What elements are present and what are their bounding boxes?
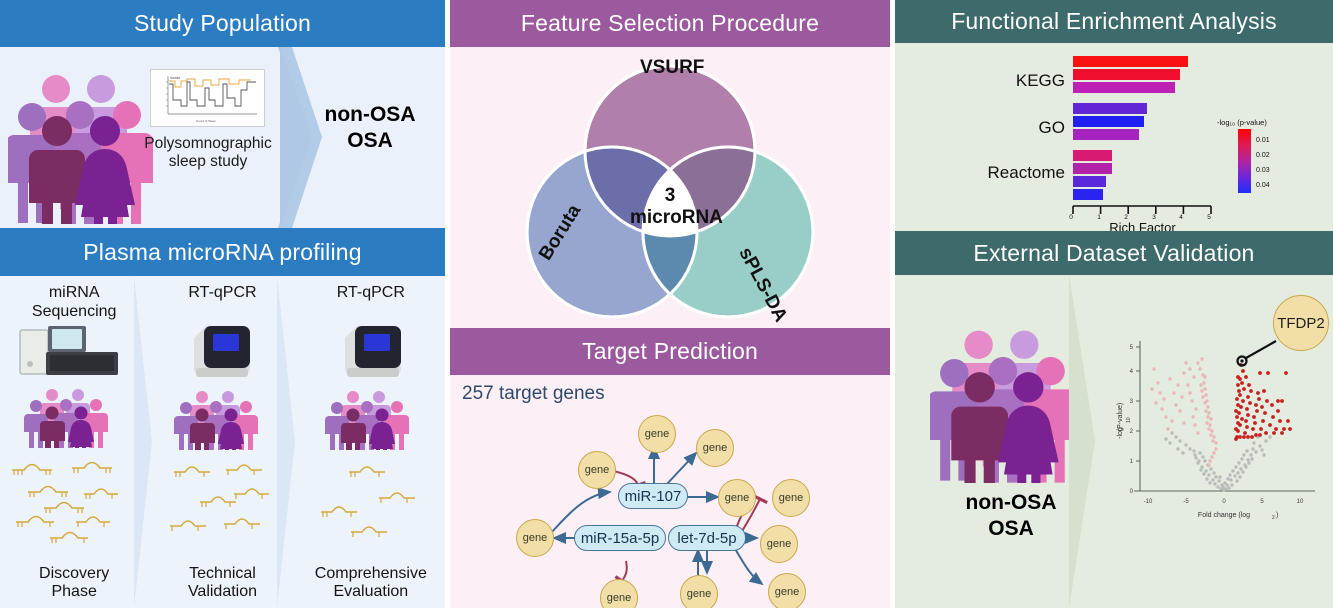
people-group-small-icon xyxy=(22,386,116,448)
legend-tick-3: 0.04 xyxy=(1256,182,1270,189)
legend-title: -log₁₀ (p-value) xyxy=(1217,118,1267,127)
mirna-node-mir-15a-5p: miR-15a-5p xyxy=(574,525,666,551)
venn-center-count-label: 3 microRNA xyxy=(630,185,710,230)
panel-target-prediction: Target Prediction 257 target genes xyxy=(450,328,890,608)
panel-feature-selection-header: Feature Selection Procedure xyxy=(450,0,890,47)
mirna-strands-icon xyxy=(6,458,136,550)
panel-study-population: Study Population xyxy=(0,0,445,228)
stage-technical-validation-title: RT-qPCR xyxy=(148,284,296,303)
volcano-plot: 012 345 -10-50 510 Fold change (log 2 ) … xyxy=(1110,333,1322,533)
gene-node: gene xyxy=(516,519,554,557)
legend-colorbar xyxy=(1238,129,1251,193)
svg-text:10: 10 xyxy=(1126,417,1132,423)
people-group-small-icon xyxy=(172,388,266,450)
panel-feature-selection: Feature Selection Procedure xyxy=(450,0,890,328)
svg-text:(P-value): (P-value) xyxy=(1117,403,1124,431)
column-left: Study Population xyxy=(0,0,445,608)
legend-tick-0: 0.01 xyxy=(1256,137,1270,144)
stage-discovery-footer: Discovery Phase xyxy=(0,565,148,602)
svg-text:0: 0 xyxy=(1130,489,1134,495)
study-group-labels: non-OSA OSA xyxy=(295,102,445,155)
people-group-icon xyxy=(930,313,1082,483)
venn-diagram: VSURF Boruta sPLS-DA 3 microRNA xyxy=(450,47,890,328)
panel-functional-enrichment-body: KEGG GO Reactome xyxy=(895,43,1333,231)
svg-text:1: 1 xyxy=(1130,459,1134,465)
bar-chart-x-axis xyxy=(1069,203,1219,219)
svg-text:10: 10 xyxy=(1297,499,1304,505)
mirna-strands-icon xyxy=(307,462,435,550)
validation-group-labels: non-OSA OSA xyxy=(936,490,1086,543)
svg-text:Fold change (log: Fold change (log xyxy=(1198,512,1250,519)
gene-node: gene xyxy=(718,479,756,517)
legend-tick-2: 0.03 xyxy=(1256,167,1270,174)
polysomnography-caption: Polysomnographic sleep study xyxy=(118,135,298,171)
stage-comprehensive-evaluation-footer: Comprehensive Evaluation xyxy=(297,565,445,602)
bar-go-3 xyxy=(1073,129,1139,140)
gene-node: gene xyxy=(578,451,616,489)
bar-reactome-2 xyxy=(1073,163,1112,174)
qpcr-icon xyxy=(186,318,258,380)
bar-reactome-4 xyxy=(1073,189,1103,200)
gene-node: gene xyxy=(760,525,798,563)
gene-node: gene xyxy=(696,429,734,467)
svg-text:3: 3 xyxy=(1130,399,1134,405)
stage-comprehensive-evaluation: RT-qPCR xyxy=(297,276,445,608)
column-center: Feature Selection Procedure xyxy=(450,0,890,608)
panel-study-population-body: Awake Sleep Stages Hours of Sleep xyxy=(0,47,445,228)
plasma-stage-columns: miRNA Sequencing xyxy=(0,276,445,608)
panel-feature-selection-body: VSURF Boruta sPLS-DA 3 microRNA xyxy=(450,47,890,328)
gene-node: gene xyxy=(768,573,806,608)
bar-go-2 xyxy=(1073,116,1144,127)
panel-external-validation: External Dataset Validation xyxy=(895,231,1333,608)
svg-text:): ) xyxy=(1276,512,1278,519)
gene-node: gene xyxy=(638,415,676,453)
bar-kegg-3 xyxy=(1073,82,1175,93)
column-right: Functional Enrichment Analysis KEGG GO R… xyxy=(895,0,1333,608)
panel-functional-enrichment-header: Functional Enrichment Analysis xyxy=(895,0,1333,43)
svg-text:0: 0 xyxy=(1222,499,1226,505)
stage-discovery-title: miRNA Sequencing xyxy=(0,284,148,321)
stage-technical-validation-footer: Technical Validation xyxy=(148,565,296,602)
svg-text:4: 4 xyxy=(1130,369,1134,375)
panel-functional-enrichment: Functional Enrichment Analysis KEGG GO R… xyxy=(895,0,1333,231)
stage-technical-validation: RT-qPCR xyxy=(148,276,296,608)
stage-discovery: miRNA Sequencing xyxy=(0,276,148,608)
tfdp2-callout-bubble: TFDP2 xyxy=(1273,295,1329,351)
gene-node: gene xyxy=(680,575,718,608)
stage-comprehensive-evaluation-title: RT-qPCR xyxy=(297,284,445,303)
sequencer-icon xyxy=(18,324,120,376)
bar-category-label-kegg: KEGG xyxy=(955,71,1065,91)
tfdp2-leader-line xyxy=(1246,341,1276,358)
bar-kegg-1 xyxy=(1073,56,1188,67)
svg-text:Hours of Sleep: Hours of Sleep xyxy=(196,119,216,123)
bar-category-label-reactome: Reactome xyxy=(935,163,1065,183)
panel-plasma-profiling: Plasma microRNA profiling miRNA Sequenci… xyxy=(0,228,445,608)
panel-target-prediction-header: Target Prediction xyxy=(450,328,890,375)
bar-kegg-2 xyxy=(1073,69,1180,80)
validation-divider-icon xyxy=(1065,275,1101,608)
svg-text:5: 5 xyxy=(1130,345,1134,351)
panel-plasma-profiling-header: Plasma microRNA profiling xyxy=(0,228,445,276)
svg-text:2: 2 xyxy=(1272,515,1275,521)
panel-target-prediction-body: 257 target genes xyxy=(450,375,890,608)
people-group-small-icon xyxy=(323,388,417,450)
enrichment-bar-chart: KEGG GO Reactome xyxy=(895,43,1333,231)
panel-study-population-header: Study Population xyxy=(0,0,445,47)
panel-plasma-profiling-body: miRNA Sequencing xyxy=(0,276,445,608)
panel-external-validation-body: non-OSA OSA xyxy=(895,275,1333,608)
svg-text:5: 5 xyxy=(1260,499,1264,505)
mirna-strands-icon xyxy=(160,460,282,550)
mirna-node-let-7d-5p: let-7d-5p xyxy=(668,525,746,551)
legend-tick-1: 0.02 xyxy=(1256,152,1270,159)
venn-label-vsurf: VSURF xyxy=(640,57,704,79)
gene-node: gene xyxy=(772,479,810,517)
svg-text:Awake: Awake xyxy=(170,76,180,80)
bar-category-label-go: GO xyxy=(955,118,1065,138)
bar-go-1 xyxy=(1073,103,1147,114)
bar-reactome-3 xyxy=(1073,176,1106,187)
polysomnography-chart: Awake Sleep Stages Hours of Sleep xyxy=(150,69,265,127)
panel-external-validation-header: External Dataset Validation xyxy=(895,231,1333,275)
qpcr-icon xyxy=(337,318,409,380)
bar-reactome-1 xyxy=(1073,150,1112,161)
bar-chart-x-axis-label: Rich Factor xyxy=(1065,220,1220,231)
mirna-node-mir-107: miR-107 xyxy=(618,483,688,509)
svg-text:-10: -10 xyxy=(1144,499,1153,505)
graphical-abstract: Study Population xyxy=(0,0,1333,608)
svg-text:-5: -5 xyxy=(1183,499,1189,505)
svg-text:2: 2 xyxy=(1130,429,1134,435)
